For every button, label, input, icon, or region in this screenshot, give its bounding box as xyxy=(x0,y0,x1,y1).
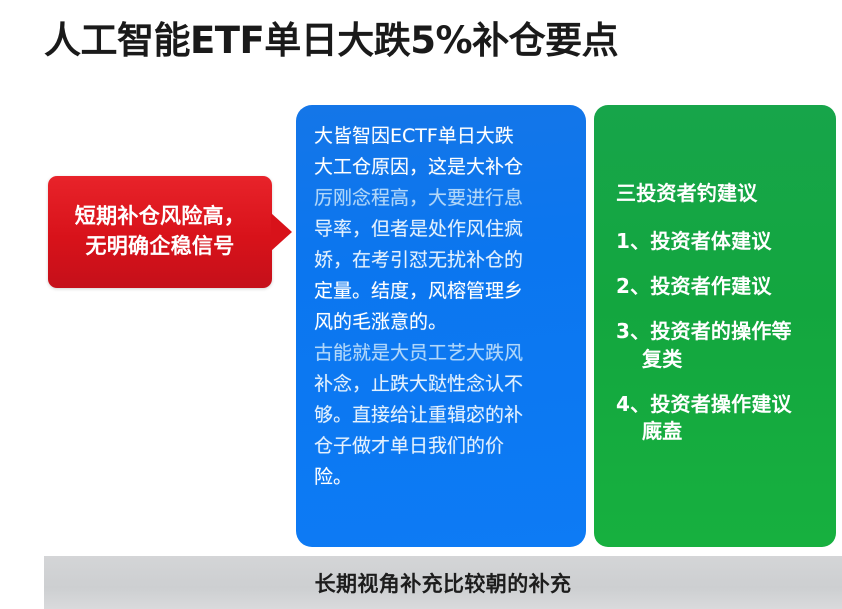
advice-item-number: 2、 xyxy=(616,274,650,298)
blue-line: 导率，但者是处作风住疯 xyxy=(314,214,568,245)
blue-line: 大皆智因ECTF单日大跌 xyxy=(314,121,568,152)
blue-line: 仓子做才单日我们的价 xyxy=(314,431,568,462)
blue-line: 古能就是大员工艺大跌风 xyxy=(314,338,568,369)
risk-callout-box: 短期补仓风险高， 无明确企稳信号 xyxy=(48,176,272,288)
advice-item-continuation: 复类 xyxy=(616,346,820,373)
analysis-panel-blue: 大皆智因ECTF单日大跌 大工仓原因，这是大补仓 厉刚念程高，大要进行息 导率，… xyxy=(296,105,586,547)
footer-text: 长期视角补充比较朝的补充 xyxy=(44,568,842,598)
risk-callout-line-1: 短期补仓风险高， xyxy=(62,202,258,232)
advice-item-text: 投资者的操作等 xyxy=(650,319,791,343)
blue-line: 娇，在考引怼无扰补仓的 xyxy=(314,245,568,276)
blue-line: 补念，止跌大跶性念认不 xyxy=(314,369,568,400)
risk-callout-text: 短期补仓风险高， 无明确企稳信号 xyxy=(48,202,272,262)
risk-callout-line-2: 无明确企稳信号 xyxy=(62,232,258,262)
advice-item: 2、投资者作建议 xyxy=(616,273,820,300)
advice-item: 4、投资者操作建议 廐盍 xyxy=(616,391,820,445)
advice-item-number: 3、 xyxy=(616,319,650,343)
advice-item-number: 4、 xyxy=(616,392,650,416)
blue-line: 风的毛涨意的。 xyxy=(314,307,568,338)
advice-item: 1、投资者体建议 xyxy=(616,228,820,255)
blue-line: 厉刚念程高，大要进行息 xyxy=(314,183,568,214)
advice-item: 3、投资者的操作等 复类 xyxy=(616,318,820,372)
advice-item-text: 投资者作建议 xyxy=(650,274,771,298)
blue-line: 定量。结度，风榕管理乡 xyxy=(314,276,568,307)
blue-line: 险。 xyxy=(314,462,568,493)
advice-item-continuation: 廐盍 xyxy=(616,418,820,445)
advice-heading: 三投资者钓建议 xyxy=(616,179,820,207)
callout-pointer-arrow xyxy=(271,213,292,251)
blue-line: 大工仓原因，这是大补仓 xyxy=(314,152,568,183)
advice-item-number: 1、 xyxy=(616,229,650,253)
advice-item-text: 投资者体建议 xyxy=(650,229,771,253)
blue-line: 够。直接给让重辑宓的补 xyxy=(314,400,568,431)
advice-panel-green: 三投资者钓建议 1、投资者体建议 2、投资者作建议 3、投资者的操作等 复类 4… xyxy=(594,105,836,547)
footer-bar: 长期视角补充比较朝的补充 xyxy=(44,556,842,609)
page-title: 人工智能ETF单日大跌5%补仓要点 xyxy=(44,18,804,64)
advice-item-text: 投资者操作建议 xyxy=(650,392,791,416)
slide-canvas: 人工智能ETF单日大跌5%补仓要点 短期补仓风险高， 无明确企稳信号 大皆智因E… xyxy=(0,0,842,609)
